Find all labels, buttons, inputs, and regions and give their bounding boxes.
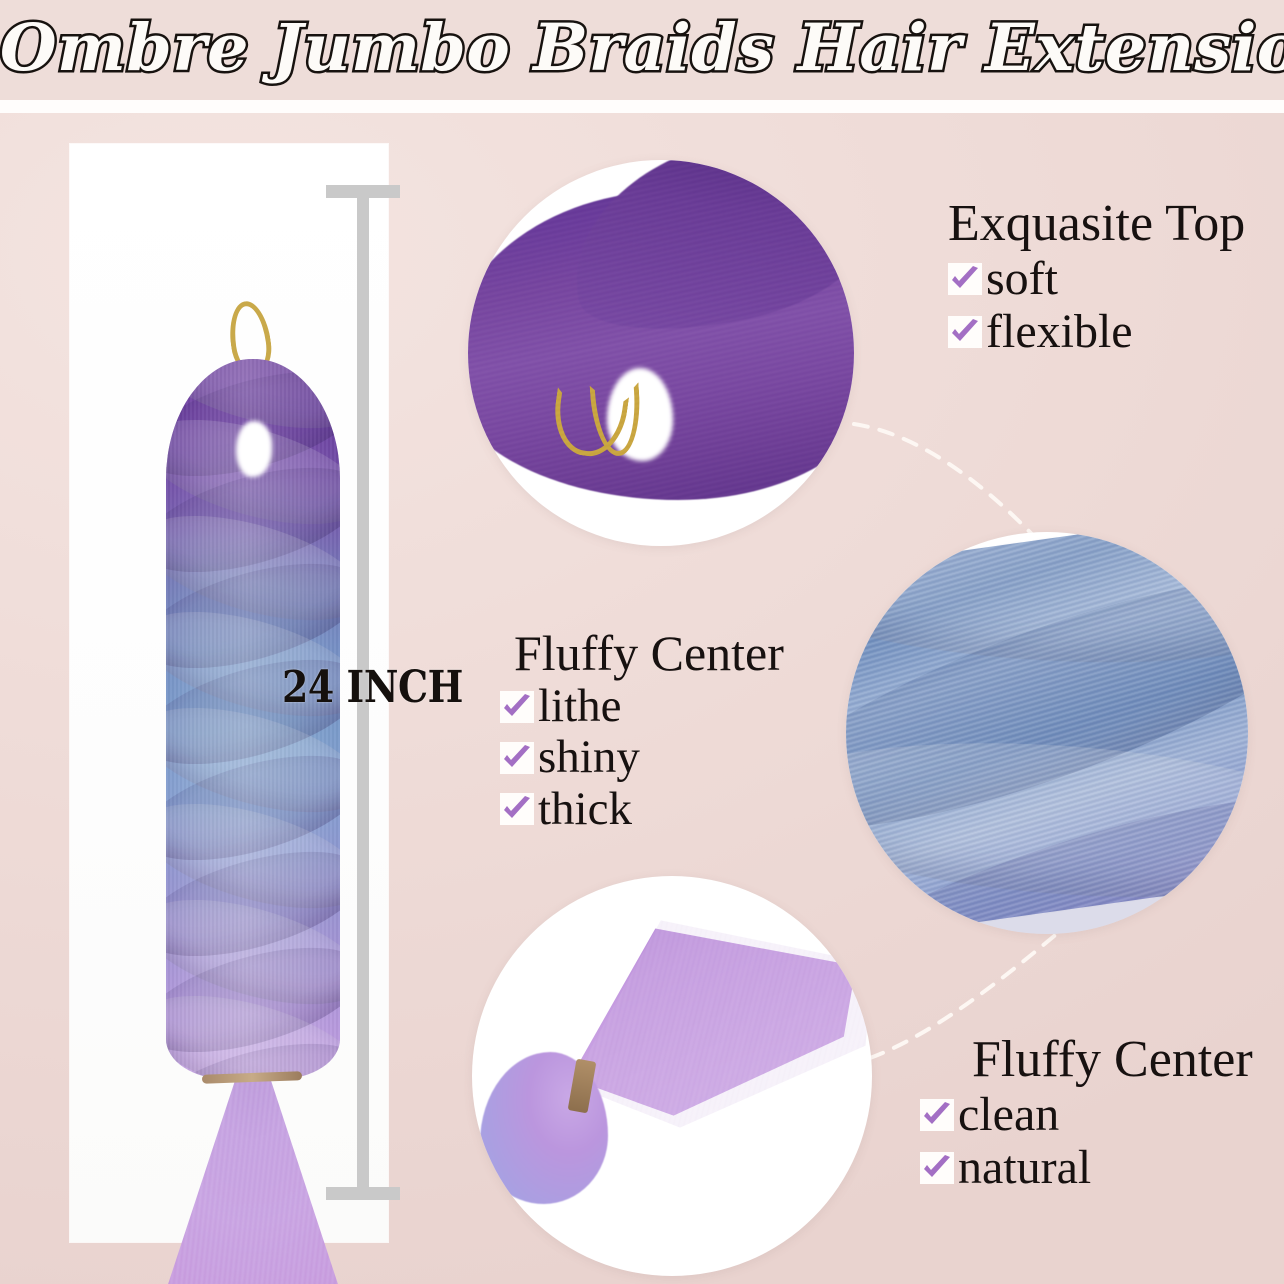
checkmark-icon — [500, 691, 534, 723]
feature-label: shiny — [538, 733, 640, 782]
feature-item: thick — [500, 785, 784, 834]
feature-block-fluffy-center-middle: Fluffy Center lithe shiny — [500, 626, 784, 834]
feature-item: clean — [920, 1090, 1253, 1140]
checkmark-icon — [920, 1099, 954, 1131]
braid-loop-opening — [236, 421, 272, 477]
checkmark-icon — [500, 793, 534, 825]
feature-item: shiny — [500, 733, 784, 782]
feature-label: clean — [958, 1090, 1059, 1140]
measurement-label: 24 INCH — [282, 662, 463, 713]
ruler-bottom-cap — [326, 1187, 400, 1200]
title-divider — [0, 100, 1284, 113]
checkmark-icon — [948, 316, 982, 348]
feature-list: lithe shiny thick — [500, 682, 784, 834]
feature-label: soft — [986, 254, 1058, 304]
feature-list: soft flexible — [948, 254, 1245, 357]
inset-lavender-end-detail — [472, 876, 872, 1276]
inset-blue-center-detail — [846, 532, 1248, 934]
feature-item: natural — [920, 1143, 1253, 1193]
feature-title: Fluffy Center — [500, 626, 784, 680]
feature-label: lithe — [538, 682, 622, 731]
braid-end-fiber-texture — [152, 1075, 354, 1284]
feature-item: soft — [948, 254, 1245, 304]
blue-fiber-texture — [846, 532, 1248, 934]
checkmark-icon — [500, 742, 534, 774]
feature-title: Fluffy Center — [920, 1032, 1253, 1088]
title-banner: Ombre Jumbo Braids Hair Extensions — [0, 0, 1284, 100]
blue-hair-mass — [846, 532, 1248, 934]
page-title: Ombre Jumbo Braids Hair Extensions — [0, 2, 1284, 94]
inset-purple-top-detail — [468, 160, 854, 546]
feature-item: lithe — [500, 682, 784, 731]
feature-block-fluffy-center-bottom: Fluffy Center clean natural — [920, 1032, 1253, 1193]
feature-label: flexible — [986, 307, 1133, 357]
feature-list: clean natural — [920, 1090, 1253, 1193]
braid-image — [158, 359, 348, 1284]
feature-label: thick — [538, 785, 632, 834]
feature-label: natural — [958, 1143, 1091, 1193]
checkmark-icon — [920, 1152, 954, 1184]
purple-fiber-texture — [468, 160, 854, 546]
product-infographic: Ombre Jumbo Braids Hair Extensions — [0, 0, 1284, 1284]
checkmark-icon — [948, 263, 982, 295]
feature-item: flexible — [948, 307, 1245, 357]
feature-block-exquasite-top: Exquasite Top soft flexible — [948, 196, 1245, 357]
feature-title: Exquasite Top — [948, 196, 1245, 252]
